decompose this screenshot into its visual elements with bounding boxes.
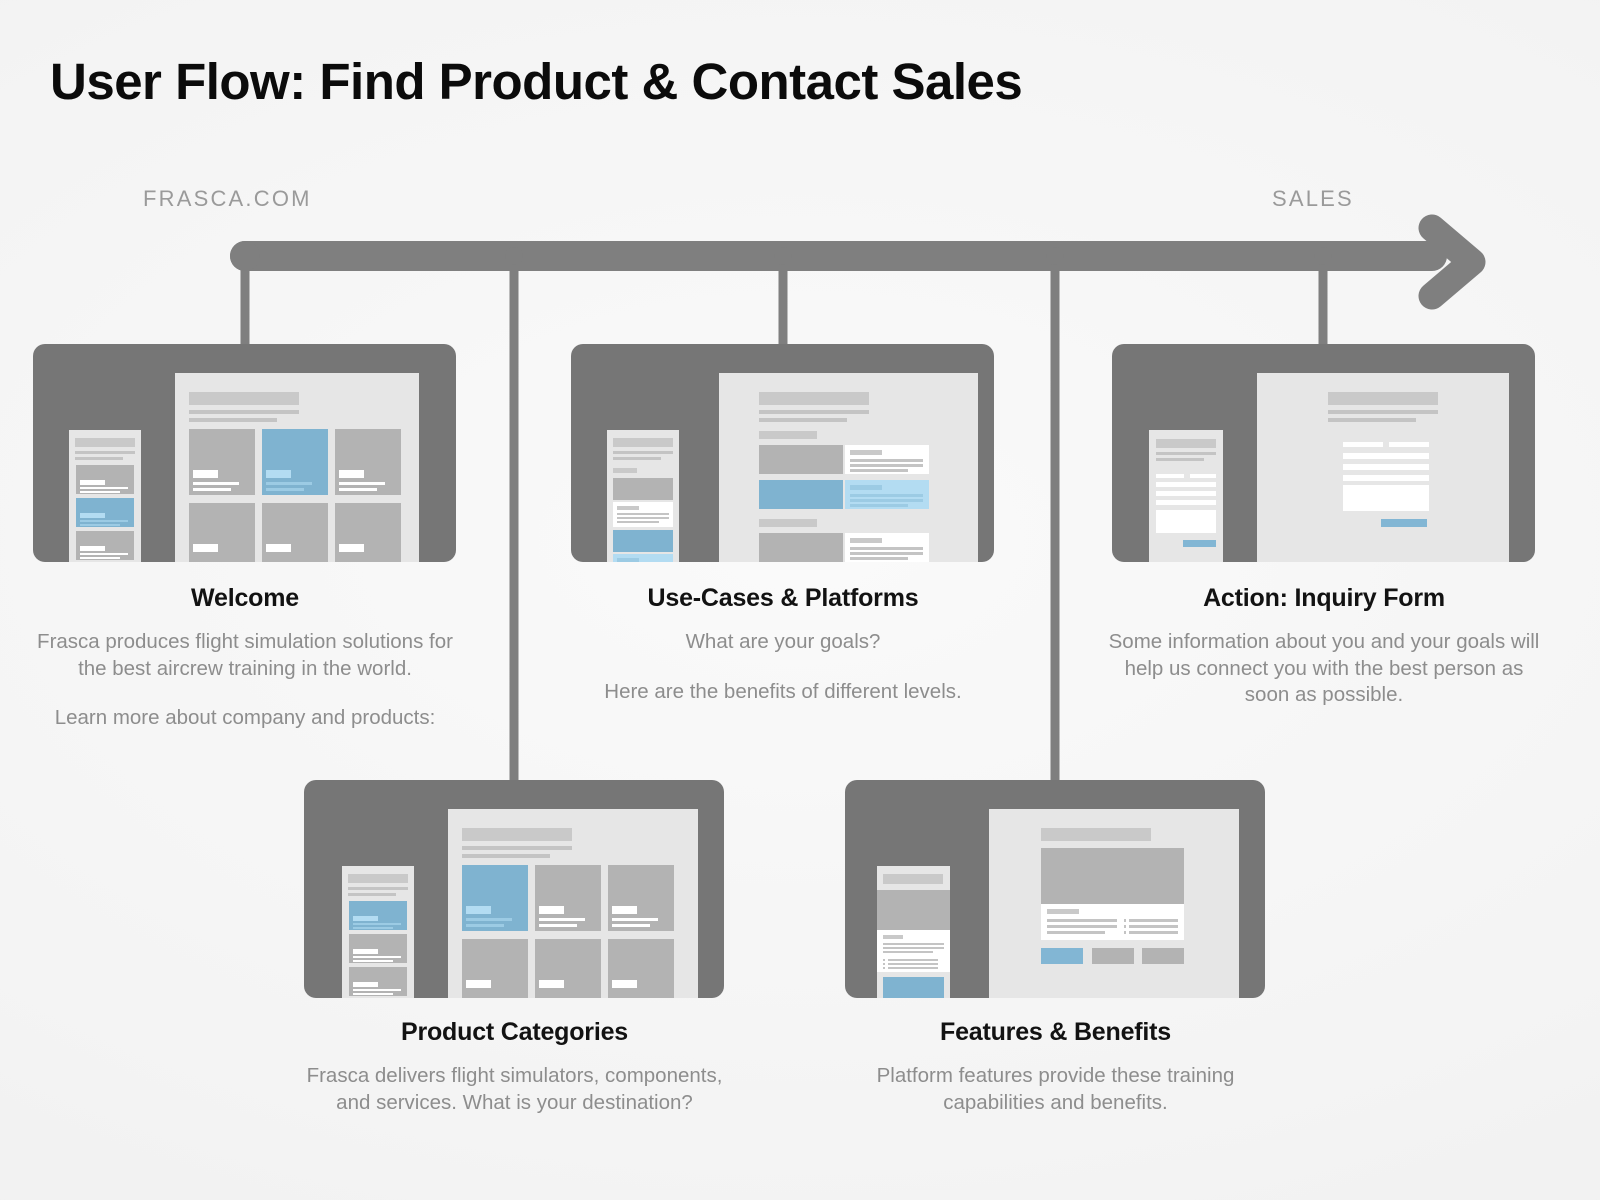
- use-cases-body-1: What are your goals?: [559, 629, 1007, 656]
- step-use-cases-platforms[interactable]: Use-Cases & Platforms What are your goal…: [571, 344, 994, 562]
- timeline-node-inquiry: [1314, 247, 1332, 265]
- welcome-mobile-mockup: [69, 430, 141, 562]
- inquiry-heading: Action: Inquiry Form: [1100, 584, 1548, 613]
- welcome-heading: Welcome: [21, 584, 469, 613]
- step-welcome[interactable]: Welcome Frasca produces flight simulatio…: [33, 344, 456, 562]
- timeline-node-start: [230, 241, 260, 271]
- use-cases-mobile-mockup: [607, 430, 679, 562]
- welcome-body-2: Learn more about company and products:: [21, 705, 469, 732]
- page-title: User Flow: Find Product & Contact Sales: [50, 52, 1022, 111]
- inquiry-mobile-mockup: [1149, 430, 1223, 562]
- product-categories-body-1: Frasca delivers flight simulators, compo…: [292, 1063, 737, 1116]
- features-benefits-desktop-mockup: [989, 809, 1239, 998]
- inquiry-desktop-mockup: [1257, 373, 1509, 562]
- product-categories-mobile-mockup: [342, 866, 414, 998]
- features-benefits-device-frame: [845, 780, 1265, 998]
- features-benefits-mobile-mockup: [877, 866, 950, 998]
- product-categories-caption: Product Categories Frasca delivers fligh…: [292, 1018, 737, 1116]
- welcome-desktop-mockup: [175, 373, 419, 562]
- use-cases-heading: Use-Cases & Platforms: [559, 584, 1007, 613]
- inquiry-caption: Action: Inquiry Form Some information ab…: [1100, 584, 1548, 709]
- step-features-benefits[interactable]: Features & Benefits Platform features pr…: [845, 780, 1265, 998]
- step-action-inquiry-form[interactable]: Action: Inquiry Form Some information ab…: [1112, 344, 1535, 562]
- inquiry-body-1: Some information about you and your goal…: [1100, 629, 1548, 709]
- timeline-node-features-benefits: [1046, 247, 1064, 265]
- product-categories-desktop-mockup: [448, 809, 698, 998]
- product-categories-heading: Product Categories: [292, 1018, 737, 1047]
- timeline-end-label: SALES: [1272, 186, 1354, 212]
- welcome-device-frame: [33, 344, 456, 562]
- welcome-caption: Welcome Frasca produces flight simulatio…: [21, 584, 469, 732]
- step-product-categories[interactable]: Product Categories Frasca delivers fligh…: [304, 780, 724, 998]
- use-cases-caption: Use-Cases & Platforms What are your goal…: [559, 584, 1007, 705]
- use-cases-device-frame: [571, 344, 994, 562]
- timeline-node-use-cases: [774, 247, 792, 265]
- features-benefits-caption: Features & Benefits Platform features pr…: [833, 1018, 1278, 1116]
- features-benefits-heading: Features & Benefits: [833, 1018, 1278, 1047]
- inquiry-device-frame: [1112, 344, 1535, 562]
- welcome-body-1: Frasca produces flight simulation soluti…: [21, 629, 469, 682]
- timeline-start-label: FRASCA.COM: [143, 186, 312, 212]
- use-cases-desktop-mockup: [719, 373, 978, 562]
- timeline-arrow: [245, 228, 1472, 296]
- product-categories-device-frame: [304, 780, 724, 998]
- features-benefits-body-1: Platform features provide these training…: [833, 1063, 1278, 1116]
- timeline-node-product-categories: [505, 247, 523, 265]
- use-cases-body-2: Here are the benefits of different level…: [559, 679, 1007, 706]
